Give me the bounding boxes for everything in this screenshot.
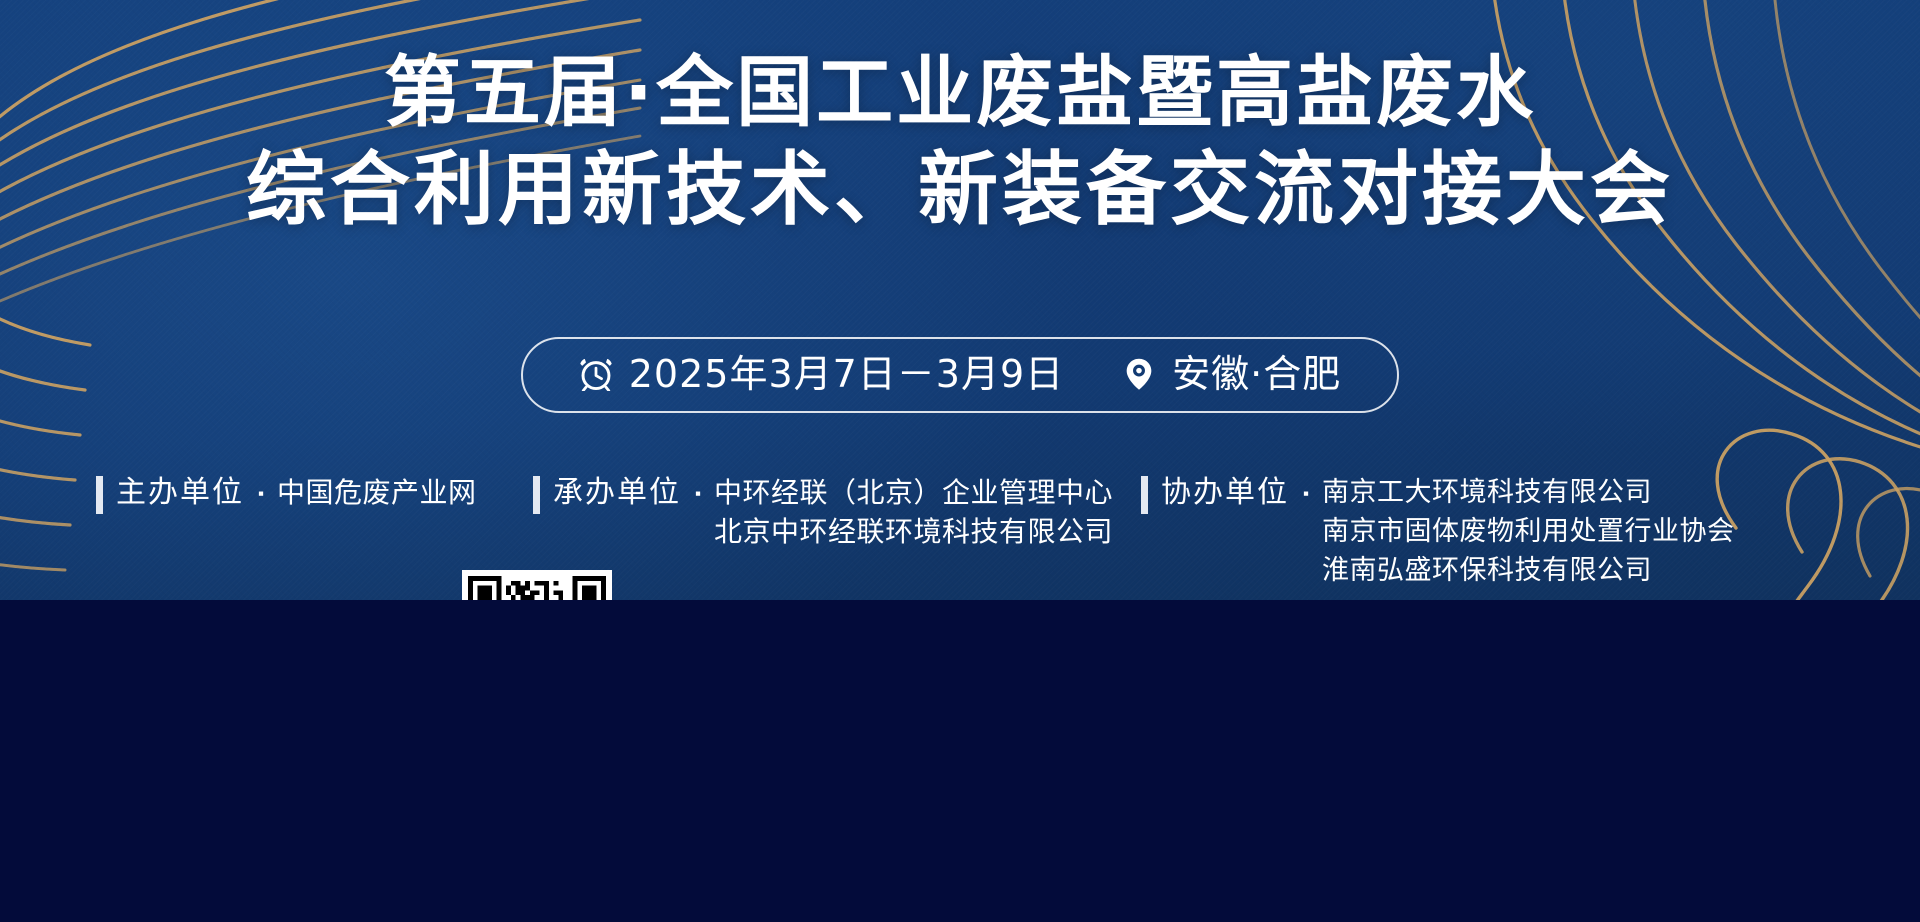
title-line-2: 综合利用新技术、新装备交流对接大会 [0,142,1920,238]
qr-code[interactable] [462,570,612,600]
accent-bar-icon [533,476,540,514]
content-area-empty [0,600,1920,922]
accent-bar-icon [1141,476,1148,514]
map-pin-icon [1122,357,1156,391]
conference-banner: 第五届·全国工业废盐暨高盐废水 综合利用新技术、新装备交流对接大会 2025年3… [0,0,1920,600]
event-location-text: 安徽·合肥 [1172,352,1341,396]
organizer-name: 南京工大环境科技有限公司 [1322,473,1735,512]
page-root: 第五届·全国工业废盐暨高盐废水 综合利用新技术、新装备交流对接大会 2025年3… [0,0,1920,922]
event-date-item: 2025年3月7日－3月9日 [579,352,1064,396]
bullet-separator-icon: ▪ [1303,473,1309,514]
organizer-coorganizer-names: 南京工大环境科技有限公司 南京市固体废物利用处置行业协会 淮南弘盛环保科技有限公… [1322,473,1735,590]
organizer-undertaker-names: 中环经联（北京）企业管理中心 北京中环经联环境科技有限公司 [714,473,1113,551]
title-line-1: 第五届·全国工业废盐暨高盐废水 [0,46,1920,142]
organizer-coorganizer-label: 协办单位 [1161,473,1289,512]
info-pill-wrapper: 2025年3月7日－3月9日 安徽·合肥 [0,337,1920,413]
organizer-name: 中环经联（北京）企业管理中心 [714,473,1113,512]
organizer-host-label: 主办单位 [116,473,244,512]
organizer-undertaker-label: 承办单位 [553,473,681,512]
accent-bar-icon [96,476,103,514]
bullet-separator-icon: ▪ [695,473,701,514]
organizer-host-names: 中国危废产业网 [277,473,477,512]
event-info-pill: 2025年3月7日－3月9日 安徽·合肥 [521,337,1400,413]
event-date-text: 2025年3月7日－3月9日 [629,352,1064,396]
bullet-separator-icon: ▪ [258,473,264,514]
organizer-undertaker: 承办单位 ▪ 中环经联（北京）企业管理中心 北京中环经联环境科技有限公司 [533,473,1141,590]
organizer-name: 北京中环经联环境科技有限公司 [714,512,1113,551]
alarm-clock-icon [579,357,613,391]
event-location-item: 安徽·合肥 [1122,352,1341,396]
organizer-name: 中国危废产业网 [277,473,477,512]
banner-title-block: 第五届·全国工业废盐暨高盐废水 综合利用新技术、新装备交流对接大会 [0,46,1920,238]
organizer-name: 淮南弘盛环保科技有限公司 [1322,551,1735,590]
organizer-name: 南京市固体废物利用处置行业协会 [1322,512,1735,551]
qr-code-image [468,576,606,600]
organizers-row: 主办单位 ▪ 中国危废产业网 承办单位 ▪ 中环经联（北京）企业管理中心 北京中… [0,473,1920,590]
organizer-coorganizer: 协办单位 ▪ 南京工大环境科技有限公司 南京市固体废物利用处置行业协会 淮南弘盛… [1141,473,1830,590]
